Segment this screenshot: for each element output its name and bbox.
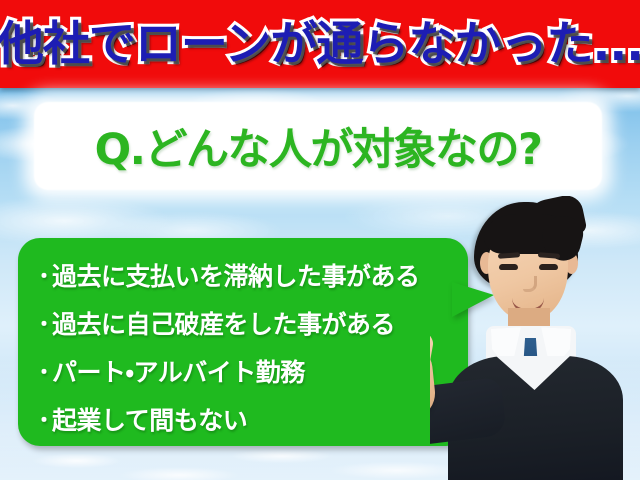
eye-right	[539, 264, 558, 270]
list-item-label: パート・アルバイト勤務	[52, 353, 305, 389]
person-figure	[430, 196, 640, 480]
question-text: Q.どんな人が対象なの?	[34, 102, 602, 190]
list-item-label: 過去に自己破産をした事がある	[52, 305, 395, 341]
promotional-poster: 他社でローンが通らなかった... Q.どんな人が対象なの? ・ 過去に支払いを滞…	[0, 0, 640, 480]
list-item-label: 過去に支払いを滞納した事がある	[52, 257, 420, 293]
list-item: ・ 過去に自己破産をした事がある	[34, 300, 468, 345]
bullet-icon: ・	[34, 404, 52, 433]
list-item: ・ 起業して間もない	[34, 396, 468, 441]
bullet-icon: ・	[34, 260, 52, 289]
list-item: ・ パート・アルバイト勤務	[34, 348, 468, 393]
eye-left	[499, 264, 518, 270]
header-banner: 他社でローンが通らなかった...	[0, 0, 640, 88]
bullet-icon: ・	[34, 308, 52, 337]
person-photo	[430, 196, 640, 480]
list-item-label: 起業して間もない	[52, 401, 247, 437]
answer-list: ・ 過去に支払いを滞納した事がある ・ 過去に自己破産をした事がある ・ パート…	[18, 238, 468, 446]
bullet-icon: ・	[34, 356, 52, 385]
header-headline: 他社でローンが通らなかった...	[0, 21, 640, 68]
list-item: ・ 過去に支払いを滞納した事がある	[34, 252, 468, 297]
